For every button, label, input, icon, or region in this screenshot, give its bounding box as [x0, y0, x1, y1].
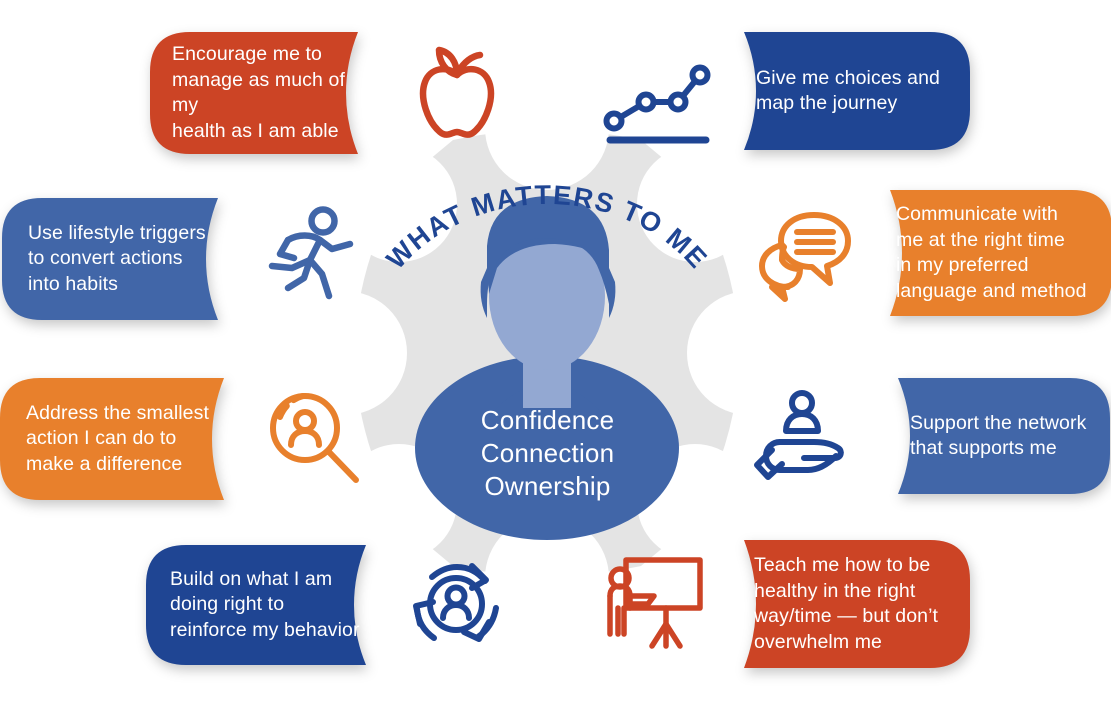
bubble-smallest-action[interactable]: Address the smallest action I can do to …: [0, 378, 256, 500]
bubble-support-network[interactable]: Support the network that supports me: [868, 378, 1110, 494]
bubble-text: Give me choices and map the journey: [756, 66, 940, 117]
bubble-communicate-right-time[interactable]: Communicate with me at the right time in…: [860, 190, 1111, 316]
arc-title-text: WHAT MATTERS TO ME: [381, 180, 714, 275]
magnifier-person-icon: [262, 388, 366, 492]
infographic-canvas: WHAT MATTERS TO ME Confidence Connection…: [0, 0, 1111, 716]
cycle-person-icon: [404, 552, 508, 656]
bubble-text: Address the smallest action I can do to …: [26, 401, 209, 478]
bubble-text: Build on what I am doing right to reinfo…: [170, 567, 360, 644]
apple-icon: [412, 42, 502, 142]
line-chart-icon: [602, 58, 712, 148]
running-person-icon: [258, 202, 362, 306]
arc-title-what-matters-to-me: WHAT MATTERS TO ME: [337, 118, 757, 588]
teacher-board-icon: [604, 552, 708, 652]
bubble-text: Communicate with me at the right time in…: [896, 202, 1087, 304]
bubble-lifestyle-triggers[interactable]: Use lifestyle triggers to convert action…: [2, 198, 250, 320]
bubble-text: Use lifestyle triggers to convert action…: [28, 221, 206, 298]
speech-bubbles-icon: [752, 205, 854, 305]
bubble-text: Teach me how to be healthy in the right …: [754, 553, 938, 655]
hand-person-icon: [752, 388, 856, 488]
bubble-text: Support the network that supports me: [910, 411, 1086, 462]
